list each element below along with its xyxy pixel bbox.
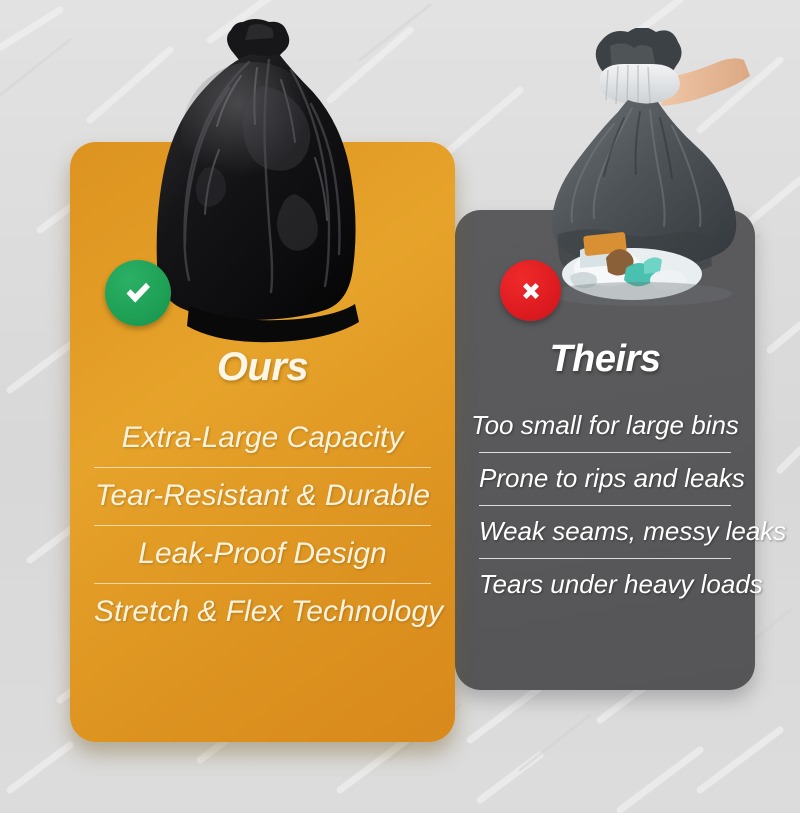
feature-list-ours: Extra-Large Capacity Tear-Resistant & Du… (70, 410, 455, 641)
cross-circle-icon (500, 260, 561, 321)
feature-list-theirs: Too small for large bins Prone to rips a… (455, 400, 755, 611)
panel-ours: Ours Extra-Large Capacity Tear-Resistant… (70, 346, 455, 641)
comparison-infographic: Theirs Too small for large bins Prone to… (0, 0, 800, 813)
list-item: Leak-Proof Design (94, 525, 431, 583)
list-item: Prone to rips and leaks (479, 452, 731, 505)
list-item: Too small for large bins (455, 400, 755, 452)
list-item: Extra-Large Capacity (70, 410, 455, 467)
heading-ours: Ours (70, 346, 455, 388)
check-circle-icon (105, 260, 171, 326)
list-item: Stretch & Flex Technology (94, 583, 431, 641)
panel-theirs: Theirs Too small for large bins Prone to… (455, 340, 755, 611)
list-item: Tears under heavy loads (479, 558, 731, 611)
heading-theirs: Theirs (455, 340, 755, 380)
list-item: Weak seams, messy leaks (479, 505, 731, 558)
list-item: Tear-Resistant & Durable (94, 467, 431, 525)
